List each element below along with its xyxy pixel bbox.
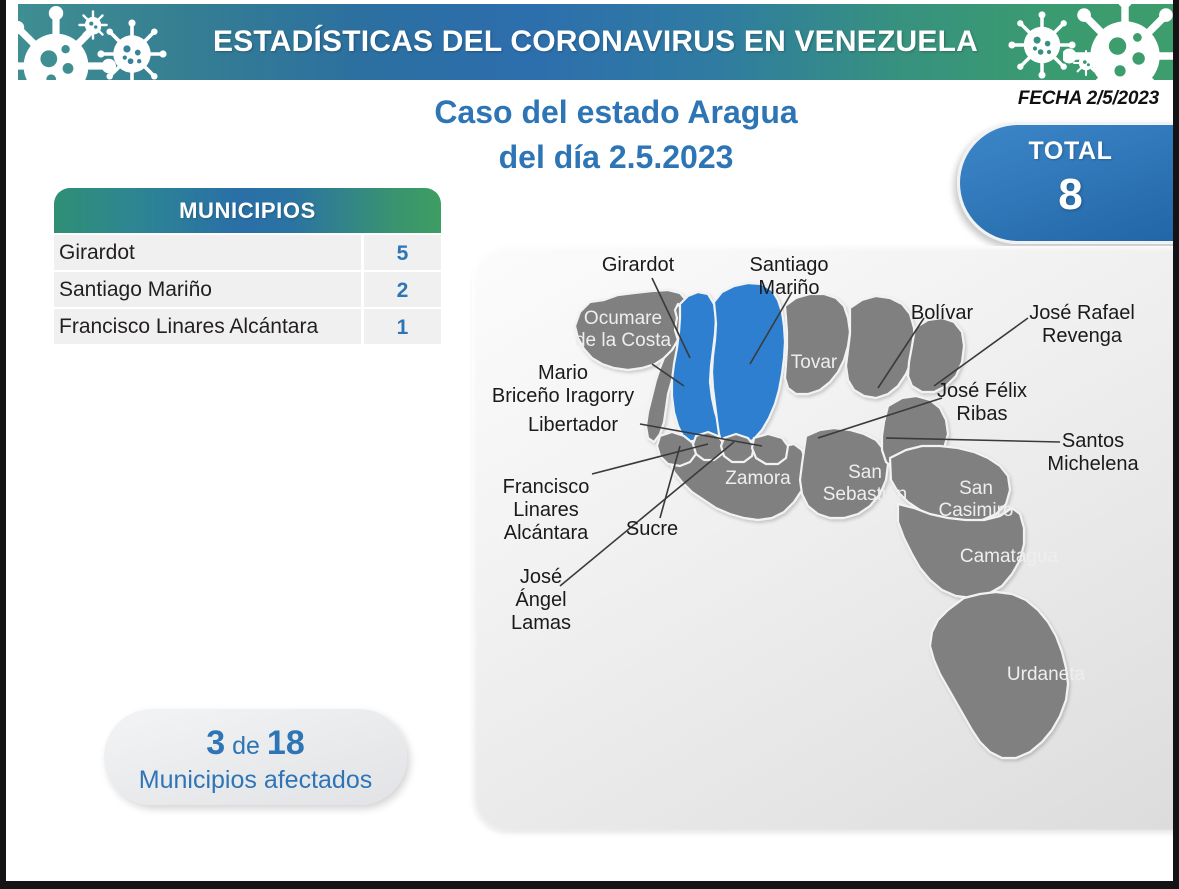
total-badge: TOTAL 8 — [957, 122, 1179, 244]
map-label-santiago-marino: Santiago Mariño — [734, 254, 844, 300]
region-libertador — [752, 434, 788, 464]
map-label-girardot: Girardot — [588, 254, 688, 277]
map-label-bolivar: Bolívar — [892, 302, 992, 325]
aragua-map-panel: Girardot Santiago Mariño Bolívar José Ra… — [472, 246, 1179, 830]
table-row: Santiago Mariño 2 — [54, 270, 441, 307]
map-label-francisco-linares-alcantara: Francisco Linares Alcántara — [486, 476, 606, 546]
total-value: 8 — [960, 170, 1179, 220]
municipio-count: 2 — [361, 272, 441, 307]
page-title-line2: del día 2.5.2023 — [336, 135, 896, 180]
table-row: Girardot 5 — [54, 233, 441, 270]
total-label: TOTAL — [960, 137, 1179, 166]
map-label-san-sebastian: San Sebastián — [808, 462, 922, 505]
map-label-zamora: Zamora — [704, 468, 812, 490]
region-santiago-marino — [712, 283, 785, 448]
page-title: Caso del estado Aragua del día 2.5.2023 — [336, 90, 896, 181]
map-label-jose-felix-ribas: José Félix Ribas — [912, 380, 1052, 426]
map-label-jose-angel-lamas: José Ángel Lamas — [486, 566, 596, 636]
municipio-count: 1 — [361, 309, 441, 344]
page-title-line1: Caso del estado Aragua — [336, 90, 896, 135]
map-label-jose-rafael-revenga: José Rafael Revenga — [1004, 302, 1160, 348]
total-municipalities: 18 — [267, 724, 305, 762]
municipio-name: Santiago Mariño — [54, 278, 361, 302]
map-label-tovar: Tovar — [778, 352, 850, 374]
municipio-name: Francisco Linares Alcántara — [54, 315, 361, 339]
map-label-camatagua: Camatagua — [934, 546, 1084, 568]
banner-title: ESTADÍSTICAS DEL CORONAVIRUS EN VENEZUEL… — [18, 25, 1173, 59]
affected-ratio: 3 de 18 — [104, 726, 407, 762]
ratio-connector: de — [232, 732, 260, 760]
municipios-table: MUNICIPIOS Girardot 5 Santiago Mariño 2 … — [54, 188, 441, 344]
region-tovar — [785, 294, 850, 394]
infographic-page: ESTADÍSTICAS DEL CORONAVIRUS EN VENEZUEL… — [0, 0, 1179, 889]
municipio-count: 5 — [361, 235, 441, 270]
map-label-mario-briceno-iragorry: Mario Briceño Iragorry — [474, 362, 652, 408]
map-label-sucre: Sucre — [612, 518, 692, 541]
affected-caption: Municipios afectados — [104, 766, 407, 795]
table-header: MUNICIPIOS — [54, 188, 441, 233]
affected-municipalities-badge: 3 de 18 Municipios afectados — [104, 709, 407, 805]
map-label-san-casimiro: San Casimiro — [920, 478, 1032, 521]
header-banner: ESTADÍSTICAS DEL CORONAVIRUS EN VENEZUEL… — [18, 4, 1173, 80]
map-label-urdaneta: Urdaneta — [980, 664, 1112, 686]
date-label: FECHA 2/5/2023 — [1018, 88, 1159, 110]
municipio-name: Girardot — [54, 241, 361, 265]
affected-count: 3 — [206, 724, 225, 762]
table-row: Francisco Linares Alcántara 1 — [54, 307, 441, 344]
map-label-ocumare-de-la-costa: Ocumare de la Costa — [558, 308, 688, 351]
map-label-libertador: Libertador — [508, 414, 638, 437]
map-label-santos-michelena: Santos Michelena — [1018, 430, 1168, 476]
